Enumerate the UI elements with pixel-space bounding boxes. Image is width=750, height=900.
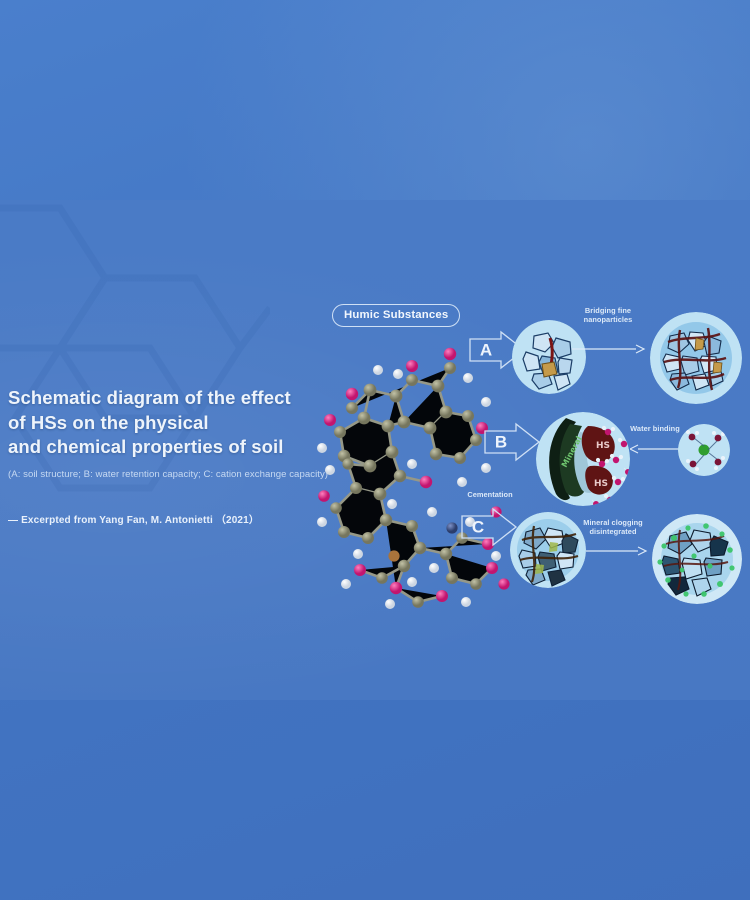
disintegrated-mineral-icon <box>652 514 742 604</box>
process-label-c: Mineral clogging disintegrated <box>574 518 652 536</box>
process-label-b: Water binding <box>622 424 688 433</box>
text-block: Schematic diagram of the effect of HSs o… <box>8 386 348 526</box>
branch-arrow-b[interactable]: B <box>483 422 541 462</box>
diagram-figure: Humic Substances <box>300 282 750 622</box>
title-line-1: Schematic diagram of the effect <box>8 387 291 408</box>
title-line-2: of HSs on the physical <box>8 412 209 433</box>
title-line-3: and chemical properties of soil <box>8 436 284 457</box>
flow-arrow-b <box>630 442 680 456</box>
hydrated-cation-icon <box>678 424 730 476</box>
input-label-c: Cementation <box>458 490 522 499</box>
branch-tag-label-a: A <box>473 342 499 359</box>
process-label-a: Bridging fine nanoparticles <box>572 306 644 324</box>
flow-arrow-c <box>586 544 648 558</box>
branch-tag-label-c: C <box>465 519 491 536</box>
branch-arrow-c[interactable]: C <box>460 507 518 547</box>
soil-aggregate-bound-icon <box>650 312 742 404</box>
svg-text:HS: HS <box>596 441 610 451</box>
clay-hs-water-icon: HS HS Mineral <box>536 412 630 506</box>
subtitle-legend: (A: soil structure; B: water retention c… <box>8 469 348 481</box>
svg-text:HS: HS <box>594 479 608 489</box>
soil-aggregate-loose-icon <box>512 320 586 394</box>
page-title: Schematic diagram of the effect of HSs o… <box>8 386 348 460</box>
branch-tag-label-b: B <box>488 434 514 451</box>
flow-arrow-a <box>572 342 646 356</box>
source-credit: — Excerpted from Yang Fan, M. Antonietti… <box>8 511 348 526</box>
slide-canvas: Schematic diagram of the effect of HSs o… <box>0 0 750 900</box>
